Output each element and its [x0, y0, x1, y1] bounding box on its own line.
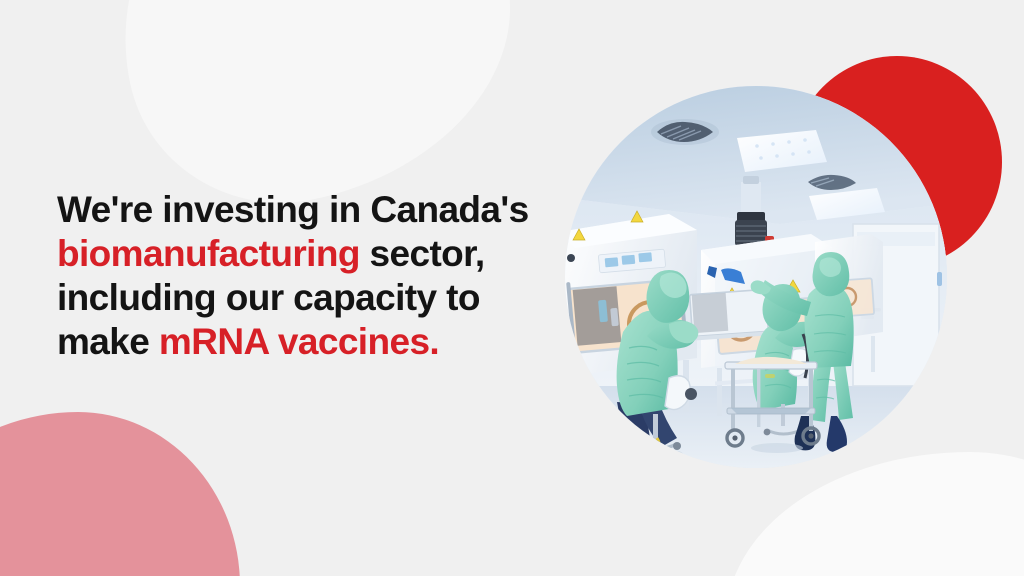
headline-line-4-lead: make	[57, 321, 159, 362]
lab-photo-circle	[565, 86, 947, 468]
headline-line-4: make mRNA vaccines.	[57, 320, 557, 364]
lab-bench	[689, 289, 771, 340]
headline-line-3: including our capacity to	[57, 276, 557, 320]
headline-line-2: biomanufacturing sector,	[57, 232, 557, 276]
lab-photo-illustration	[565, 86, 947, 468]
headline-line-1-text: We're investing in Canada's	[57, 189, 529, 230]
decorative-blob-bottom-right	[726, 452, 1024, 576]
ceiling-fan-icon	[651, 119, 719, 145]
headline: We're investing in Canada's biomanufactu…	[57, 188, 557, 364]
headline-highlight-mrna-vaccines: mRNA vaccines.	[159, 321, 439, 362]
decorative-blob-bottom-left	[0, 412, 240, 576]
headline-line-1: We're investing in Canada's	[57, 188, 557, 232]
headline-highlight-biomanufacturing: biomanufacturing	[57, 233, 360, 274]
promo-slide: We're investing in Canada's biomanufactu…	[0, 0, 1024, 576]
headline-line-3-text: including our capacity to	[57, 277, 480, 318]
headline-line-2-rest: sector,	[360, 233, 485, 274]
